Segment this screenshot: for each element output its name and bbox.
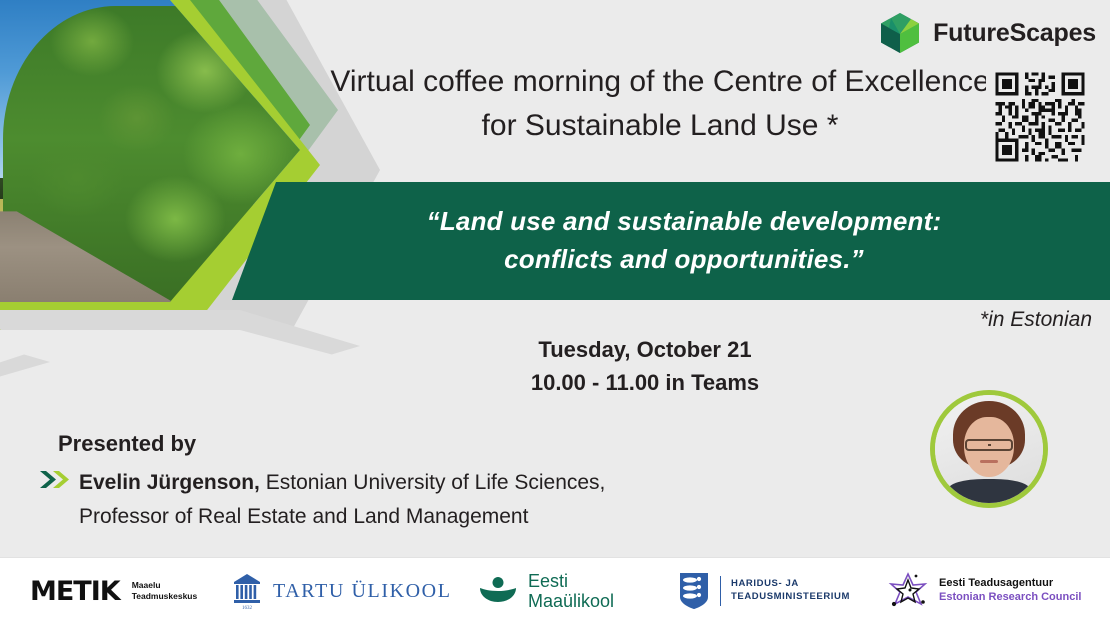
etag-wordmark: Eesti Teadusagentuur Estonian Research C… bbox=[939, 577, 1081, 605]
logo-haridus-ja-teadusministeerium: Haridus- ja Teadusministeerium bbox=[678, 571, 850, 611]
metik-subtitle: Maaelu Teadmuskeskus bbox=[132, 580, 198, 601]
presenter-details: Evelin Jürgenson, Estonian University of… bbox=[79, 466, 605, 534]
language-footnote: *in Estonian bbox=[980, 308, 1092, 332]
presented-by-label: Presented by bbox=[58, 431, 196, 457]
event-datetime: Tuesday, October 21 10.00 - 11.00 in Tea… bbox=[430, 333, 860, 400]
qr-code-svg bbox=[992, 69, 1088, 165]
logo-eesti-teadusagentuur: Eesti Teadusagentuur Estonian Research C… bbox=[886, 571, 1081, 611]
double-chevron-icon bbox=[40, 471, 70, 493]
star-constellation-icon bbox=[886, 571, 930, 611]
sponsor-footer: METIK Maaelu Teadmuskeskus 1632 TARTU ÜL… bbox=[0, 557, 1110, 624]
portrait-torso bbox=[948, 479, 1030, 503]
poster-canvas: FutureScapes Virtual coffee morning of t… bbox=[0, 0, 1110, 624]
brand-name: FutureScapes bbox=[933, 19, 1096, 48]
quote-line-2: conflicts and opportunities.” bbox=[427, 241, 942, 279]
logo-metik: METIK Maaelu Teadmuskeskus bbox=[30, 576, 197, 607]
brand-logo: FutureScapes bbox=[877, 10, 1096, 56]
event-date: Tuesday, October 21 bbox=[430, 333, 860, 366]
svg-text:1632: 1632 bbox=[242, 606, 253, 610]
logo-divider bbox=[720, 576, 721, 606]
quote-text: “Land use and sustainable development: c… bbox=[401, 203, 942, 278]
event-time: 10.00 - 11.00 in Teams bbox=[430, 366, 860, 399]
logo-tartu-ulikool: 1632 TARTU ÜLIKOOL bbox=[232, 572, 452, 610]
page-title: Virtual coffee morning of the Centre of … bbox=[330, 60, 990, 148]
presenter-block: Evelin Jürgenson, Estonian University of… bbox=[40, 466, 740, 534]
presenter-affiliation: Estonian University of Life Sciences, bbox=[260, 471, 606, 494]
quote-banner: “Land use and sustainable development: c… bbox=[232, 182, 1110, 300]
logo-eesti-maaulikool: Eesti Maaülikool bbox=[478, 571, 614, 611]
haridus-wordmark: Haridus- ja Teadusministeerium bbox=[731, 578, 850, 604]
estonia-coat-of-arms-icon bbox=[678, 571, 710, 611]
presenter-name: Evelin Jürgenson, bbox=[79, 471, 260, 494]
tartu-ulikool-wordmark: TARTU ÜLIKOOL bbox=[273, 580, 452, 603]
presenter-role: Professor of Real Estate and Land Manage… bbox=[79, 505, 528, 528]
qr-code-icon[interactable] bbox=[986, 63, 1094, 171]
leaf-book-icon bbox=[478, 574, 518, 608]
university-building-icon: 1632 bbox=[232, 572, 262, 610]
metik-wordmark-icon: METIK bbox=[30, 576, 120, 607]
eesti-maaulikool-wordmark: Eesti Maaülikool bbox=[528, 571, 614, 611]
quote-line-1: “Land use and sustainable development: bbox=[427, 203, 942, 241]
portrait-glasses bbox=[965, 439, 1013, 451]
portrait-mouth bbox=[980, 460, 997, 463]
presenter-portrait bbox=[930, 390, 1048, 508]
hexagon-cube-icon bbox=[877, 10, 923, 56]
